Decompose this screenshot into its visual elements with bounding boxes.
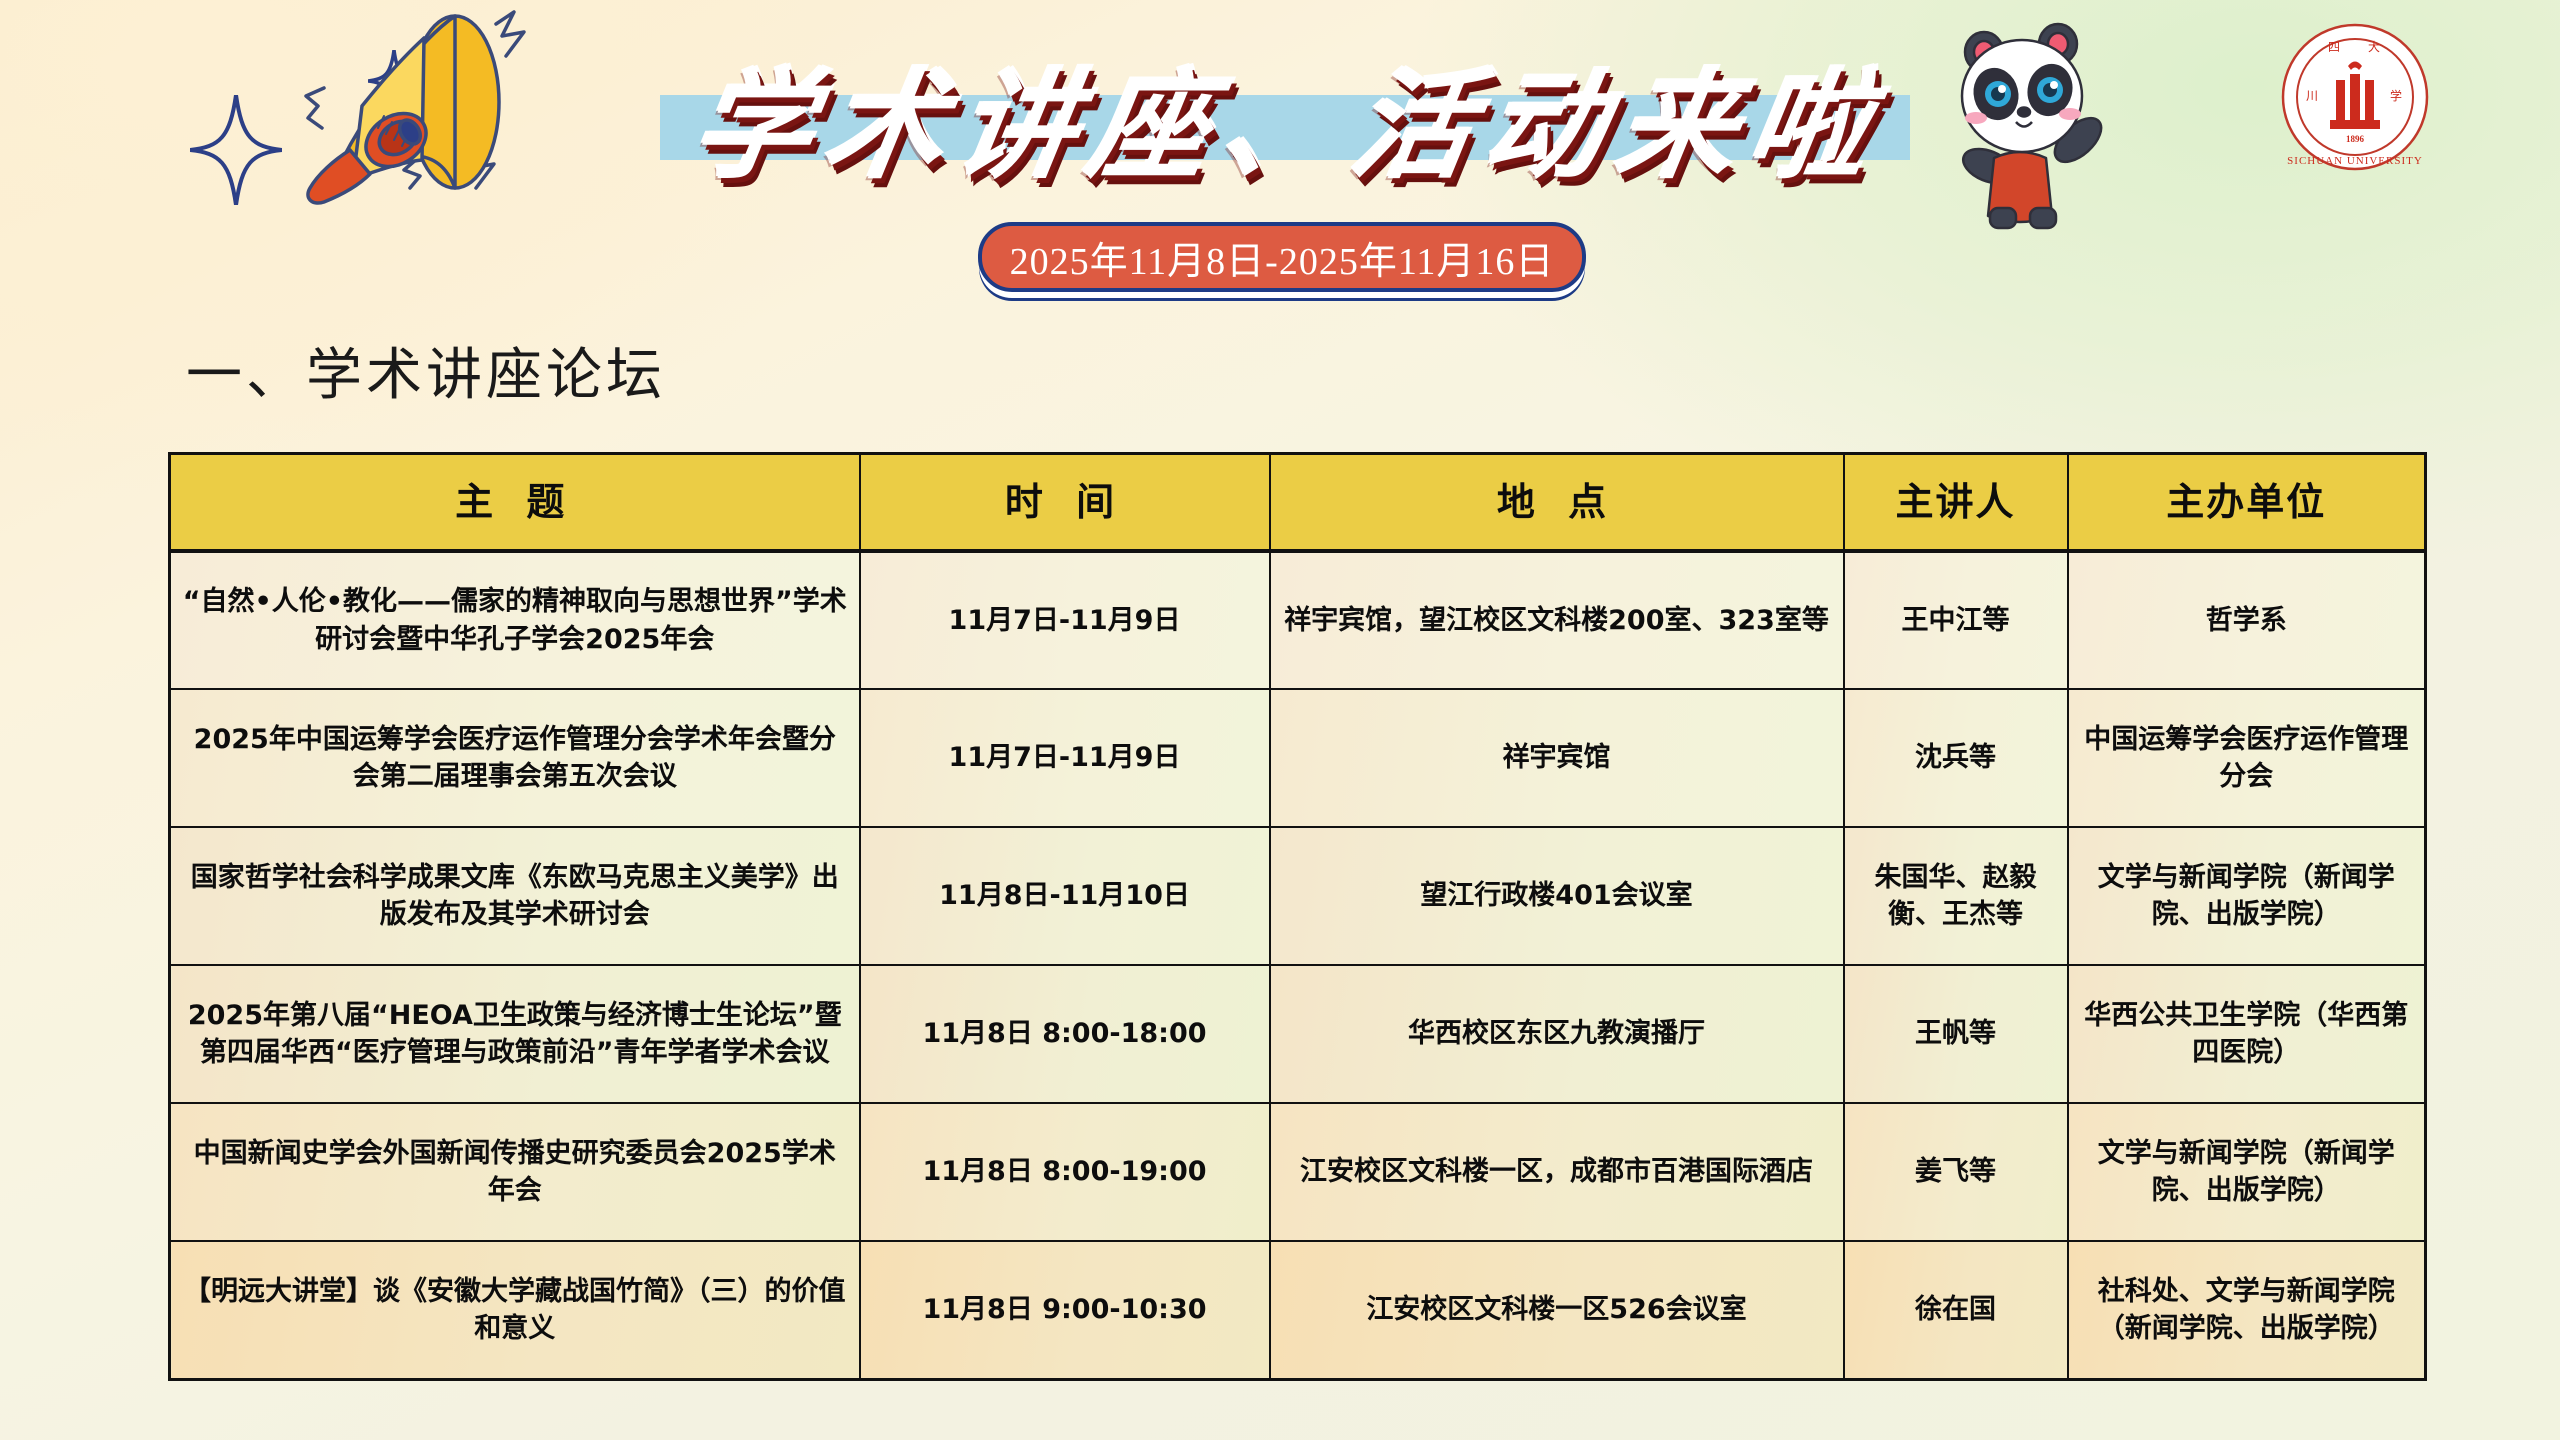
column-header-speaker: 主讲人: [1844, 454, 2068, 552]
cell-place: 江安校区文科楼一区，成都市百港国际酒店: [1270, 1103, 1844, 1241]
cell-place: 祥宇宾馆，望江校区文科楼200室、323室等: [1270, 551, 1844, 689]
cell-topic: 国家哲学社会科学成果文库《东欧马克思主义美学》出版发布及其学术研讨会: [170, 827, 860, 965]
column-header-topic: 主 题: [170, 454, 860, 552]
cell-topic: “自然•人伦•教化——儒家的精神取向与思想世界”学术研讨会暨中华孔子学会2025…: [170, 551, 860, 689]
table-row: 国家哲学社会科学成果文库《东欧马克思主义美学》出版发布及其学术研讨会 11月8日…: [170, 827, 2426, 965]
poster-canvas: 学术讲座、活动来啦 2025年11月8日-2025年11月16日: [0, 0, 2560, 1440]
cell-speaker: 朱国华、赵毅衡、王杰等: [1844, 827, 2068, 965]
cell-org: 华西公共卫生学院（华西第四医院）: [2068, 965, 2426, 1103]
megaphone-icon: [300, 10, 630, 210]
cell-place: 望江行政楼401会议室: [1270, 827, 1844, 965]
column-header-org: 主办单位: [2068, 454, 2426, 552]
cell-org: 文学与新闻学院（新闻学院、出版学院）: [2068, 827, 2426, 965]
table-row: 2025年第八届“HEOA卫生政策与经济博士生论坛”暨第四届华西“医疗管理与政策…: [170, 965, 2426, 1103]
svg-text:学: 学: [2390, 88, 2402, 103]
date-range-text: 2025年11月8日-2025年11月16日: [1010, 230, 1555, 285]
events-table-wrapper: 主 题 时 间 地 点 主讲人 主办单位 “自然•人伦•教化——儒家的精神取向与…: [168, 452, 2424, 1381]
cell-time: 11月8日 8:00-19:00: [860, 1103, 1270, 1241]
cell-speaker: 徐在国: [1844, 1241, 2068, 1379]
cell-topic: 2025年第八届“HEOA卫生政策与经济博士生论坛”暨第四届华西“医疗管理与政策…: [170, 965, 860, 1103]
column-header-place: 地 点: [1270, 454, 1844, 552]
cell-speaker: 王中江等: [1844, 551, 2068, 689]
cell-time: 11月8日 9:00-10:30: [860, 1241, 1270, 1379]
section-heading: 一、学术讲座论坛: [186, 330, 666, 411]
cell-topic: 【明远大讲堂】谈《安徽大学藏战国竹简》（三）的价值和意义: [170, 1241, 860, 1379]
column-header-time: 时 间: [860, 454, 1270, 552]
svg-text:四: 四: [2328, 40, 2340, 54]
cell-time: 11月7日-11月9日: [860, 551, 1270, 689]
cell-org: 中国运筹学会医疗运作管理分会: [2068, 689, 2426, 827]
table-row: “自然•人伦•教化——儒家的精神取向与思想世界”学术研讨会暨中华孔子学会2025…: [170, 551, 2426, 689]
date-range-badge: 2025年11月8日-2025年11月16日: [978, 222, 1586, 292]
table-header-row: 主 题 时 间 地 点 主讲人 主办单位: [170, 454, 2426, 552]
cell-speaker: 沈兵等: [1844, 689, 2068, 827]
table-row: 【明远大讲堂】谈《安徽大学藏战国竹简》（三）的价值和意义 11月8日 9:00-…: [170, 1241, 2426, 1379]
cell-org: 哲学系: [2068, 551, 2426, 689]
svg-text:大: 大: [2368, 40, 2380, 54]
cell-org: 文学与新闻学院（新闻学院、出版学院）: [2068, 1103, 2426, 1241]
logo-en-text: SICHUAN UNIVERSITY: [2287, 155, 2423, 167]
cell-place: 江安校区文科楼一区526会议室: [1270, 1241, 1844, 1379]
cell-time: 11月8日-11月10日: [860, 827, 1270, 965]
sichuan-university-logo: 1896 四 大 川 学 SICHUAN UNIVERSITY: [2280, 22, 2430, 172]
sparkle-icon: [190, 95, 282, 205]
table-row: 2025年中国运筹学会医疗运作管理分会学术年会暨分会第二届理事会第五次会议 11…: [170, 689, 2426, 827]
cell-topic: 中国新闻史学会外国新闻传播史研究委员会2025学术年会: [170, 1103, 860, 1241]
cell-place: 华西校区东区九教演播厅: [1270, 965, 1844, 1103]
cell-time: 11月8日 8:00-18:00: [860, 965, 1270, 1103]
events-table: 主 题 时 间 地 点 主讲人 主办单位 “自然•人伦•教化——儒家的精神取向与…: [168, 452, 2427, 1381]
table-row: 中国新闻史学会外国新闻传播史研究委员会2025学术年会 11月8日 8:00-1…: [170, 1103, 2426, 1241]
cell-speaker: 王帆等: [1844, 965, 2068, 1103]
cell-speaker: 姜飞等: [1844, 1103, 2068, 1241]
page-title: 学术讲座、活动来啦: [647, 30, 1934, 200]
panda-mascot-icon: [1928, 18, 2113, 233]
cell-org: 社科处、文学与新闻学院（新闻学院、出版学院）: [2068, 1241, 2426, 1379]
logo-year-text: 1896: [2346, 134, 2365, 144]
cell-place: 祥宇宾馆: [1270, 689, 1844, 827]
cell-topic: 2025年中国运筹学会医疗运作管理分会学术年会暨分会第二届理事会第五次会议: [170, 689, 860, 827]
svg-text:川: 川: [2306, 89, 2318, 103]
poster-header: 学术讲座、活动来啦 2025年11月8日-2025年11月16日: [0, 0, 2560, 330]
cell-time: 11月7日-11月9日: [860, 689, 1270, 827]
